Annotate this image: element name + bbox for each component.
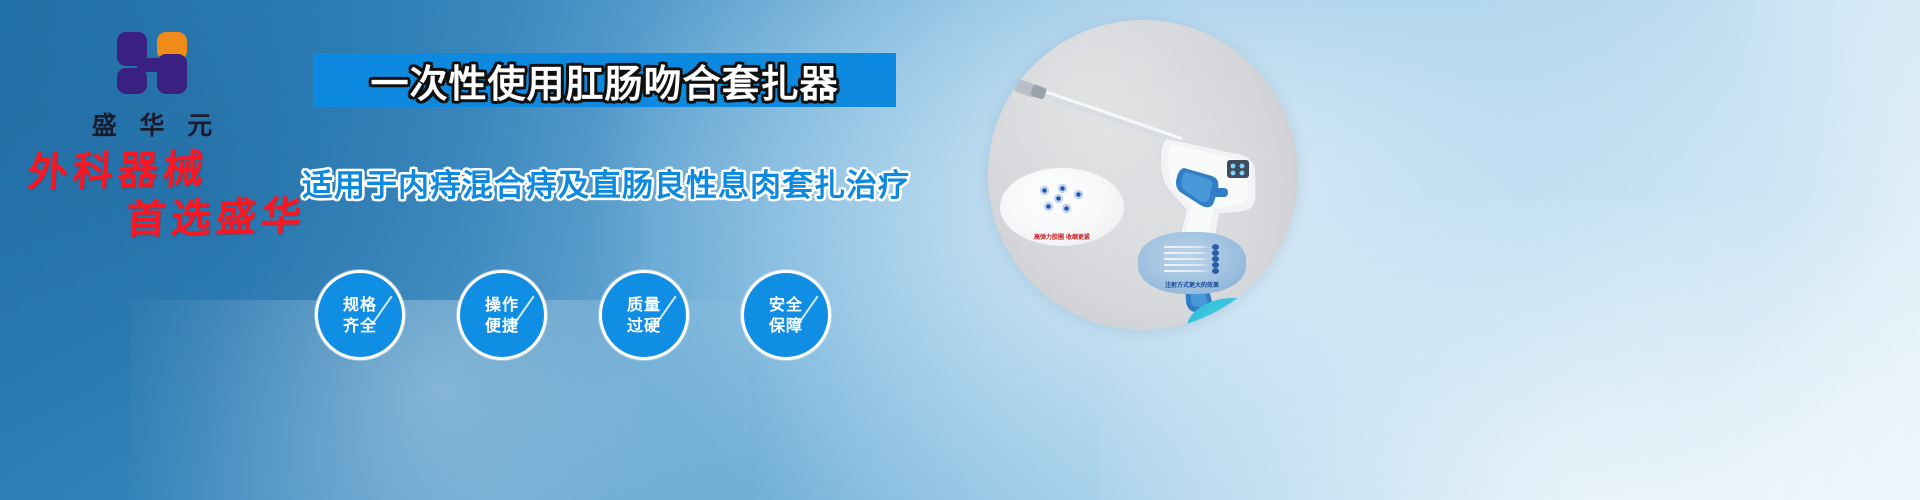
feature-badge-4[interactable]: 安全 保障 [741, 270, 831, 360]
chip-bands-label: 高弹力胶圈 收缩更紧 [1000, 232, 1124, 241]
tube-illustration [1186, 298, 1298, 330]
chip-needles-label: 注射方式更大的效果 [1138, 280, 1246, 289]
chip-ligation-bands: 高弹力胶圈 收缩更紧 [1000, 168, 1124, 246]
subtitle-text: 适用于内痔混合痔及直肠良性息肉套扎治疗 [296, 160, 916, 205]
product-photo-circle[interactable]: 高弹力胶圈 收缩更紧 注射方式更大的效果 [988, 20, 1298, 330]
feature-2-line-1: 操作 [485, 294, 519, 315]
main-title-bar: 一次性使用肛肠吻合套扎器 [313, 53, 896, 107]
feature-3-line-1: 质量 [627, 294, 661, 315]
feature-1-line-1: 规格 [343, 294, 377, 315]
feature-4-line-1: 安全 [769, 294, 803, 315]
company-logo-icon [109, 28, 195, 100]
chip-tube-part [1186, 298, 1298, 330]
brand-logo-block[interactable]: 盛 华 元 [62, 28, 242, 142]
chip-needle-set: 注射方式更大的效果 [1138, 232, 1246, 294]
feature-badge-1[interactable]: 规格 齐全 [315, 270, 405, 360]
feature-2-line-2: 便捷 [485, 315, 519, 336]
brand-name: 盛 华 元 [62, 106, 242, 142]
feature-3-line-2: 过硬 [627, 315, 661, 336]
promo-banner: 盛 华 元 外科器械 首选盛华 一次性使用肛肠吻合套扎器 适用于内痔混合痔及直肠… [0, 0, 1920, 500]
feature-badge-2[interactable]: 操作 便捷 [457, 270, 547, 360]
feature-4-line-2: 保障 [769, 315, 803, 336]
main-title-text: 一次性使用肛肠吻合套扎器 [313, 53, 896, 107]
feature-1-line-2: 齐全 [343, 315, 377, 336]
feature-badges: 规格 齐全 操作 便捷 质量 过硬 安全 保障 [315, 270, 831, 360]
feature-badge-3[interactable]: 质量 过硬 [599, 270, 689, 360]
